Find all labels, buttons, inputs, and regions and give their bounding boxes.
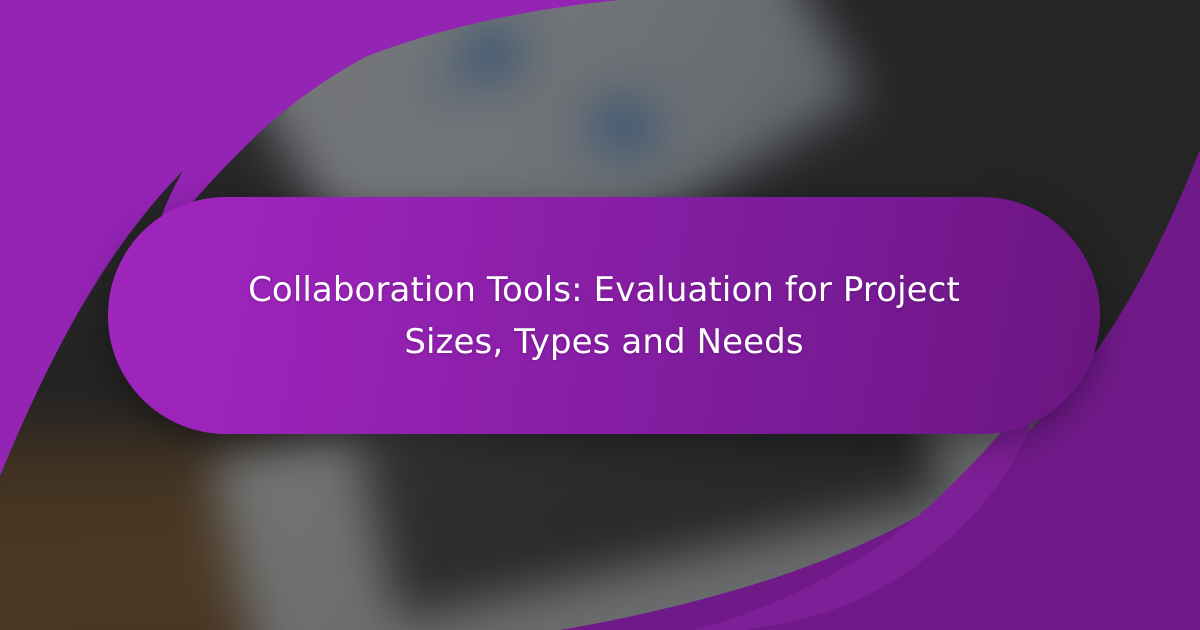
social-share-banner: Collaboration Tools: Evaluation for Proj… <box>0 0 1200 630</box>
page-title: Collaboration Tools: Evaluation for Proj… <box>244 264 964 368</box>
title-card: Collaboration Tools: Evaluation for Proj… <box>108 197 1100 434</box>
